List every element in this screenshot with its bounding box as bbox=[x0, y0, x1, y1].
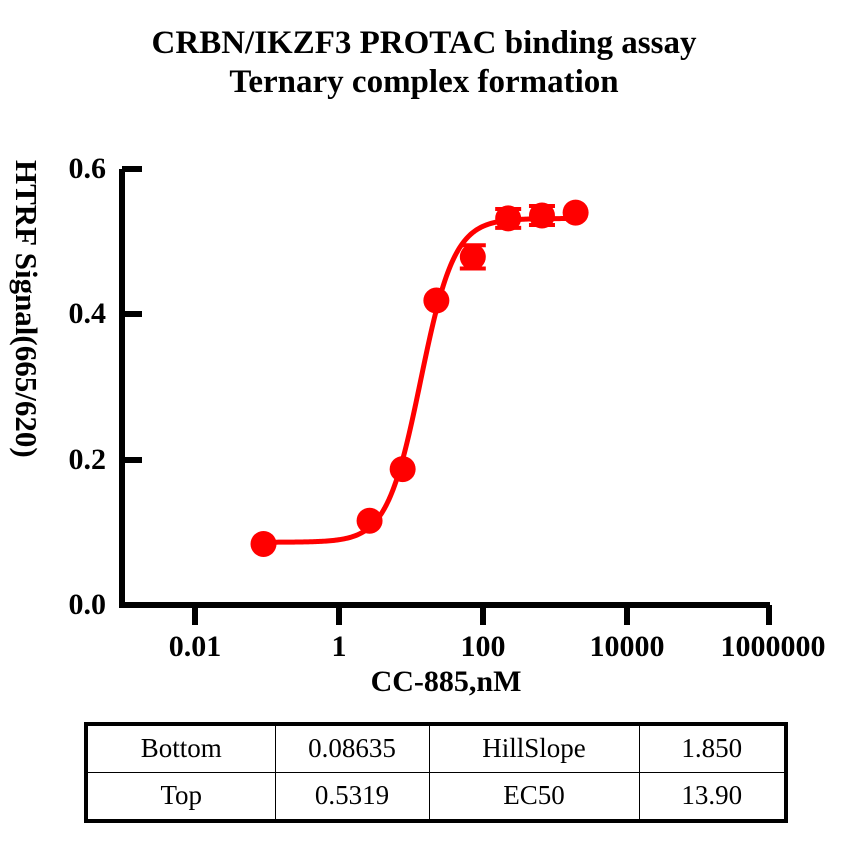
axis-lines bbox=[119, 169, 770, 605]
table-row: Top 0.5319 EC50 13.90 bbox=[86, 773, 786, 822]
data-point-marker bbox=[495, 205, 521, 231]
plot-canvas bbox=[0, 0, 848, 720]
x-tick-label-3: 10000 bbox=[590, 630, 665, 664]
x-tick-label-1: 1 bbox=[332, 630, 347, 664]
param-label: Bottom bbox=[86, 724, 275, 773]
data-point-marker bbox=[251, 531, 277, 557]
param-value: 0.5319 bbox=[275, 773, 429, 822]
plot-area: 0.6 0.4 0.2 0.0 0.01 1 100 10000 1000000… bbox=[0, 0, 848, 720]
fit-curve bbox=[264, 219, 576, 543]
x-tick-label-4: 1000000 bbox=[721, 630, 826, 664]
data-point-marker bbox=[529, 203, 555, 229]
data-point-marker bbox=[423, 288, 449, 314]
table-row: Bottom 0.08635 HillSlope 1.850 bbox=[86, 724, 786, 773]
x-axis-title: CC-885,nM bbox=[122, 665, 770, 699]
param-value: 13.90 bbox=[639, 773, 786, 822]
data-point-marker bbox=[390, 456, 416, 482]
data-point-marker bbox=[357, 508, 383, 534]
data-point-marker bbox=[460, 244, 486, 270]
param-label: Top bbox=[86, 773, 275, 822]
param-label: HillSlope bbox=[429, 724, 639, 773]
parameter-table-container: Bottom 0.08635 HillSlope 1.850 Top 0.531… bbox=[84, 722, 788, 823]
y-axis-title: HTRF Signal(665/620) bbox=[8, 160, 44, 630]
param-value: 1.850 bbox=[639, 724, 786, 773]
parameter-table: Bottom 0.08635 HillSlope 1.850 Top 0.531… bbox=[84, 722, 788, 823]
param-label: EC50 bbox=[429, 773, 639, 822]
x-tick-label-0: 0.01 bbox=[169, 630, 222, 664]
param-value: 0.08635 bbox=[275, 724, 429, 773]
x-tick-label-2: 100 bbox=[461, 630, 506, 664]
data-point-marker bbox=[563, 200, 589, 226]
